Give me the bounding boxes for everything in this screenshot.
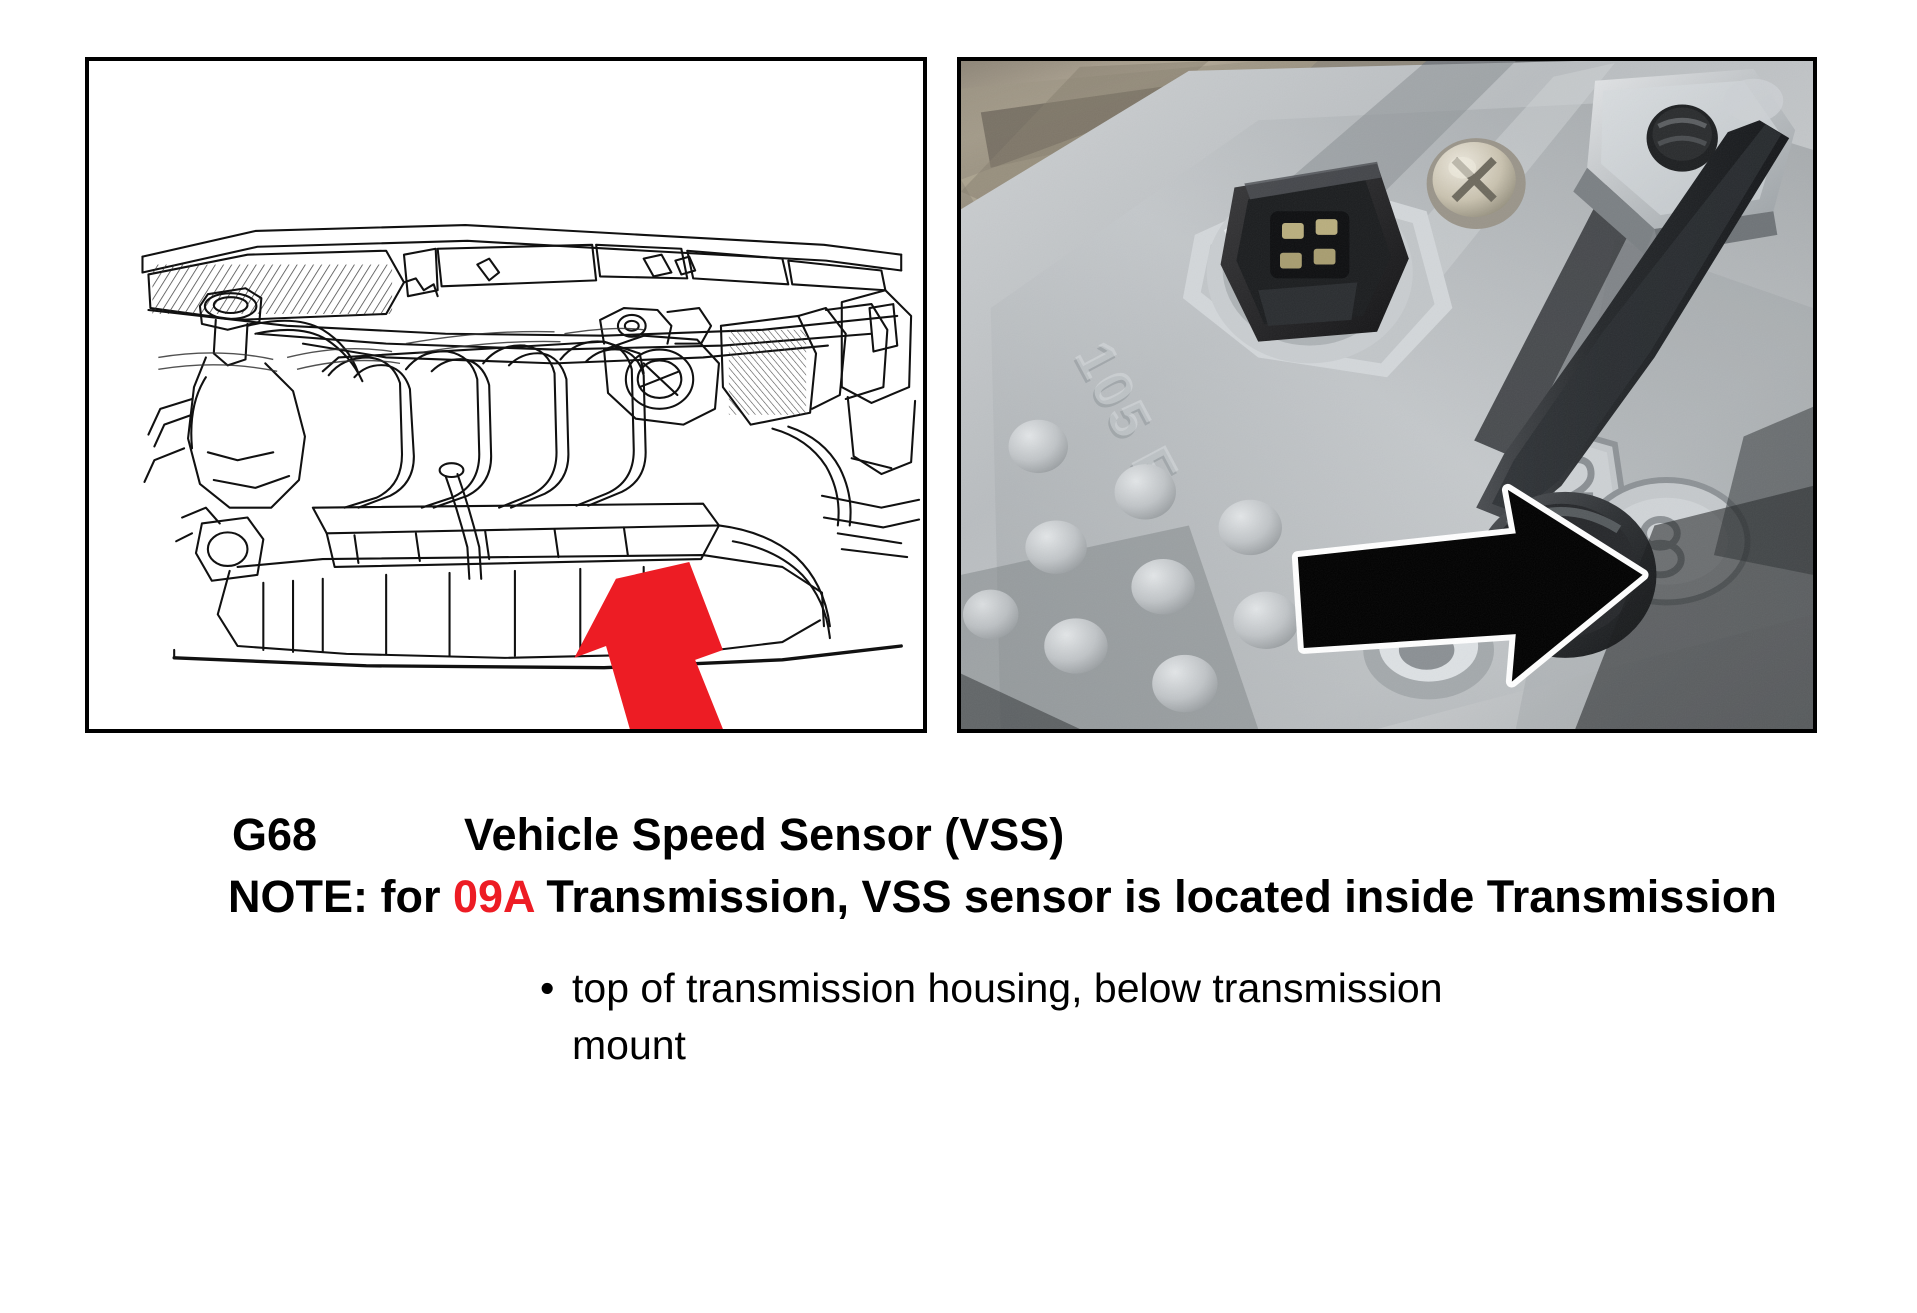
bullet-text-line-1: top of transmission housing, below trans… — [572, 965, 1443, 1011]
engine-bay-diagram — [89, 61, 923, 729]
bullet-text-line-2: mount — [540, 1017, 1640, 1074]
list-item: • top of transmission housing, below tra… — [540, 960, 1640, 1017]
note-transmission-code: 09A — [453, 871, 534, 922]
transmission-housing-photo-panel: 105 F 105 F — [957, 57, 1817, 733]
note-prefix: NOTE: for — [228, 871, 453, 922]
bullet-marker: • — [540, 960, 554, 1017]
panels-row: 105 F 105 F — [0, 0, 1917, 740]
caption-line-note: NOTE: for 09A Transmission, VSS sensor i… — [178, 810, 1777, 984]
transmission-housing-photo-svg: 105 F 105 F — [961, 61, 1813, 729]
engine-bay-diagram-panel — [85, 57, 927, 733]
engine-bay-line-art-svg — [89, 61, 923, 729]
transmission-housing-photo: 105 F 105 F — [961, 61, 1813, 729]
note-suffix: Transmission, VSS sensor is located insi… — [534, 871, 1777, 922]
bullet-list: • top of transmission housing, below tra… — [540, 960, 1640, 1074]
